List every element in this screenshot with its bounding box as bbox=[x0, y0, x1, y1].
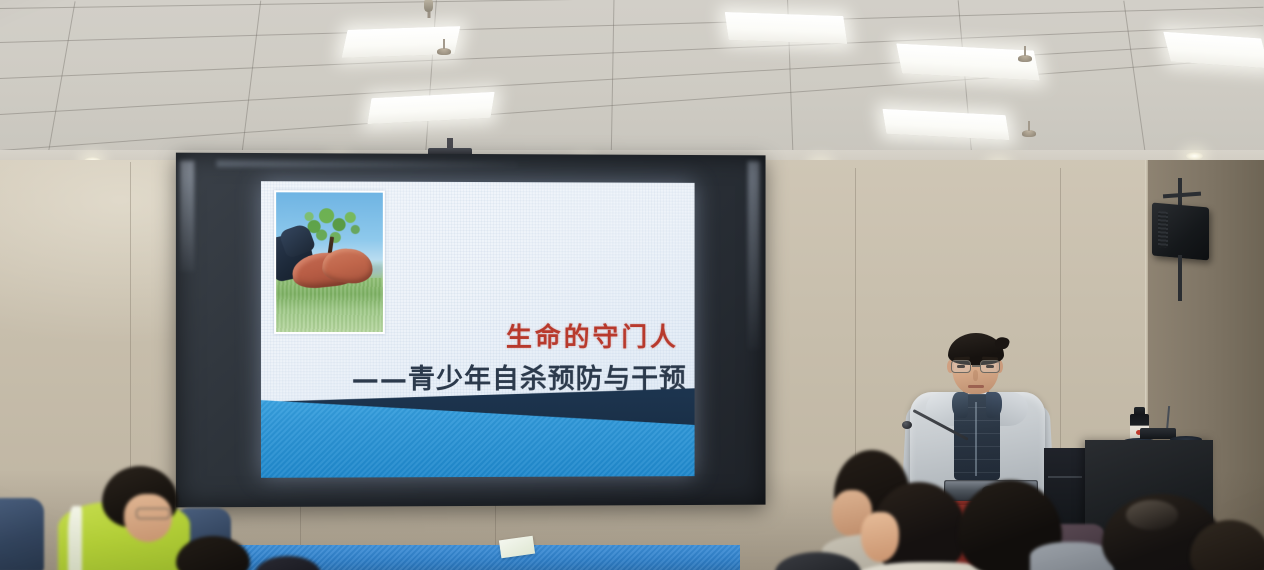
av-equipment-rack bbox=[1085, 440, 1213, 570]
fire-sprinkler bbox=[424, 0, 433, 12]
presenter-collar bbox=[986, 392, 1002, 418]
screen-glare bbox=[180, 161, 194, 272]
glasses-bridge bbox=[972, 365, 981, 367]
slide-title: 生命的守门人 bbox=[506, 317, 679, 354]
podium-front-panel bbox=[928, 536, 1040, 570]
glasses-lens bbox=[951, 360, 971, 373]
fire-sprinkler bbox=[1022, 130, 1036, 137]
ceiling-light-panel bbox=[725, 12, 848, 44]
fire-sprinkler bbox=[1018, 55, 1032, 62]
fire-sprinkler bbox=[437, 48, 451, 55]
lecture-hall-photo: 生命的守门人 ——青少年自杀预防与干预 主讲人：甘雄 bbox=[0, 0, 1264, 570]
recessed-downlight bbox=[1186, 152, 1203, 160]
ceiling bbox=[0, 0, 1264, 168]
screen-glare bbox=[748, 161, 760, 350]
presenter-nose bbox=[973, 370, 978, 381]
presenter-collar bbox=[952, 392, 968, 418]
presenter-mouth bbox=[968, 385, 984, 388]
webcam-icon bbox=[982, 486, 995, 495]
screen-glare bbox=[216, 160, 517, 168]
speaker-grille-icon bbox=[1158, 211, 1168, 248]
slide-photo-hands-holding-sapling bbox=[274, 190, 385, 334]
rack-vent-slot bbox=[1048, 476, 1082, 478]
wall-mounted-speaker bbox=[1152, 203, 1209, 261]
jacket-zipper bbox=[975, 402, 977, 476]
projection-screen[interactable]: 生命的守门人 ——青少年自杀预防与干预 主讲人：甘雄 bbox=[176, 153, 766, 508]
ceiling-tile-grid bbox=[0, 0, 1264, 168]
av-equipment-rack bbox=[1044, 448, 1088, 570]
microphone-capsule-icon bbox=[902, 421, 912, 429]
projected-slide: 生命的守门人 ——青少年自杀预防与干预 主讲人：甘雄 bbox=[261, 181, 695, 478]
glasses-lens bbox=[980, 360, 1000, 373]
speaker-bracket bbox=[1178, 255, 1182, 301]
